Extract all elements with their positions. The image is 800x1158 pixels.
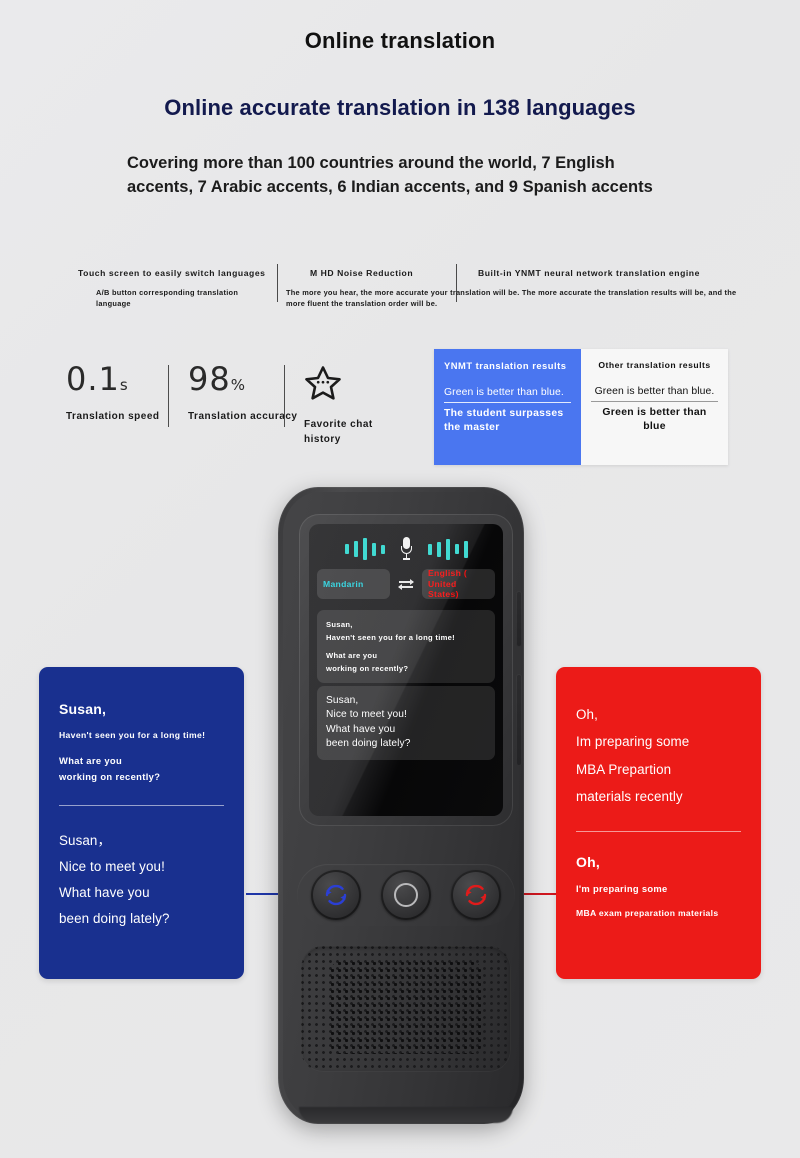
- stat-divider-2: [284, 365, 285, 427]
- stat-favorite-chat-history: Favorite chat history: [304, 363, 412, 447]
- blue-card-trans-line4: been doing lately?: [59, 906, 224, 932]
- feature-headings: Touch screen to easily switch languages …: [74, 268, 734, 284]
- waveform-right: [428, 537, 468, 561]
- refresh-arrows-icon: [463, 882, 489, 908]
- blue-card-line2: What are you: [59, 754, 224, 769]
- record-ring-icon: [394, 883, 418, 907]
- device-side-button-upper[interactable]: [516, 591, 522, 647]
- waveform-left: [345, 537, 385, 561]
- red-card-trans-name: Oh,: [576, 854, 741, 870]
- blue-card-name: Susan,: [59, 701, 224, 717]
- conversation-card-red: Oh, Im preparing some MBA Prepartion mat…: [556, 667, 761, 979]
- comparison-other-result: Green is better than blue: [591, 406, 718, 433]
- comparison-ynmt-source: Green is better than blue.: [444, 387, 571, 402]
- device-speaker-grille: [301, 946, 511, 1072]
- device-button-a-translate[interactable]: [311, 870, 361, 920]
- blue-card-line1: Haven't seen you for a long time!: [59, 729, 224, 743]
- translator-device: Mandarin English ( United States) Susan,…: [278, 487, 524, 1124]
- red-card-line4: materials recently: [576, 783, 741, 810]
- refresh-arrows-icon: [323, 882, 349, 908]
- feature-heading-touchscreen: Touch screen to easily switch languages: [78, 268, 266, 278]
- feature-subtext-ab-button: A/B button corresponding translation lan…: [96, 287, 271, 310]
- device-screen[interactable]: Mandarin English ( United States) Susan,…: [309, 524, 503, 816]
- star-icon: [304, 363, 412, 403]
- speaker-grille-core: [331, 962, 481, 1054]
- comparison-ynmt-heading: YNMT translation results: [444, 360, 571, 371]
- red-card-trans-line1: I'm preparing some: [576, 883, 741, 894]
- comparison-ynmt-column: YNMT translation results Green is better…: [434, 349, 581, 465]
- translation-comparison-panel: YNMT translation results Green is better…: [434, 349, 728, 465]
- device-screen-bezel: Mandarin English ( United States) Susan,…: [299, 514, 513, 826]
- blue-card-rule: [59, 805, 224, 806]
- stat-translation-speed: 0.1s Translation speed: [66, 363, 160, 425]
- page-description: Covering more than 100 countries around …: [127, 152, 657, 200]
- bubble1-line4: working on recently?: [326, 662, 486, 675]
- device-button-b-translate[interactable]: [451, 870, 501, 920]
- microphone-icon: [401, 537, 412, 561]
- red-card-rule: [576, 831, 741, 832]
- bubble1-line3: What are you: [326, 649, 486, 662]
- comparison-ynmt-rule: [444, 402, 571, 403]
- language-selector-row: Mandarin English ( United States): [317, 569, 495, 603]
- stat-label-speed: Translation speed: [66, 410, 160, 425]
- stat-label-accuracy: Translation accuracy: [188, 410, 298, 425]
- comparison-other-source: Green is better than blue.: [591, 386, 718, 401]
- feature-row: Touch screen to easily switch languages …: [74, 268, 734, 322]
- bubble2-line4: been doing lately?: [326, 737, 486, 751]
- feature-heading-ynmt-engine: Built-in YNMT neural network translation…: [478, 268, 700, 278]
- blue-card-line3: working on recently?: [59, 770, 224, 785]
- comparison-other-rule: [591, 401, 718, 402]
- page-subtitle: Online accurate translation in 138 langu…: [0, 95, 800, 121]
- device-button-center-record[interactable]: [381, 870, 431, 920]
- feature-divider-1: [277, 264, 278, 302]
- blue-card-trans-line3: What have you: [59, 880, 224, 906]
- feature-heading-noise-reduction: M HD Noise Reduction: [310, 268, 413, 278]
- stat-translation-accuracy: 98% Translation accuracy: [188, 363, 298, 425]
- bubble2-line3: What have you: [326, 723, 486, 737]
- red-card-trans-line2: MBA exam preparation materials: [576, 907, 741, 921]
- bubble2-line2: Nice to meet you!: [326, 708, 486, 722]
- stat-value-accuracy: 98%: [188, 363, 298, 395]
- stats-row: 0.1s Translation speed 98% Translation a…: [62, 363, 412, 453]
- bubble1-line1: Susan,: [326, 618, 486, 631]
- feature-body-text: The more you hear, the more accurate you…: [286, 287, 741, 310]
- stat-label-favorites: Favorite chat history: [304, 418, 412, 447]
- device-side-button-lower[interactable]: [516, 674, 522, 766]
- stat-value-speed: 0.1s: [66, 363, 160, 395]
- blue-card-trans-line1: Susan，: [59, 828, 224, 854]
- page-title: Online translation: [0, 28, 800, 54]
- comparison-other-column: Other translation results Green is bette…: [581, 349, 728, 465]
- language-chip-source[interactable]: Mandarin: [317, 569, 390, 599]
- device-body: Mandarin English ( United States) Susan,…: [283, 492, 519, 1119]
- screen-waveform-row: [309, 536, 503, 562]
- product-marketing-page: Online translation Online accurate trans…: [0, 0, 800, 1158]
- language-chip-target[interactable]: English ( United States): [422, 569, 495, 599]
- swap-arrows-icon[interactable]: [397, 569, 415, 599]
- screen-chat-bubble-2[interactable]: Susan, Nice to meet you! What have you b…: [317, 686, 495, 760]
- red-card-line1: Oh,: [576, 701, 741, 728]
- blue-card-trans-line2: Nice to meet you!: [59, 854, 224, 880]
- device-button-tray: [297, 864, 515, 926]
- screen-chat-bubble-1[interactable]: Susan, Haven't seen you for a long time!…: [317, 610, 495, 683]
- bubble1-line2: Haven't seen you for a long time!: [326, 631, 486, 644]
- stat-divider-1: [168, 365, 169, 427]
- device-bottom-edge: [299, 1107, 513, 1123]
- conversation-card-blue: Susan, Haven't seen you for a long time!…: [39, 667, 244, 979]
- comparison-other-heading: Other translation results: [591, 360, 718, 370]
- comparison-ynmt-result: The student surpasses the master: [444, 407, 571, 434]
- red-card-line2: Im preparing some: [576, 728, 741, 755]
- red-card-line3: MBA Prepartion: [576, 756, 741, 783]
- bubble2-line1: Susan,: [326, 694, 486, 708]
